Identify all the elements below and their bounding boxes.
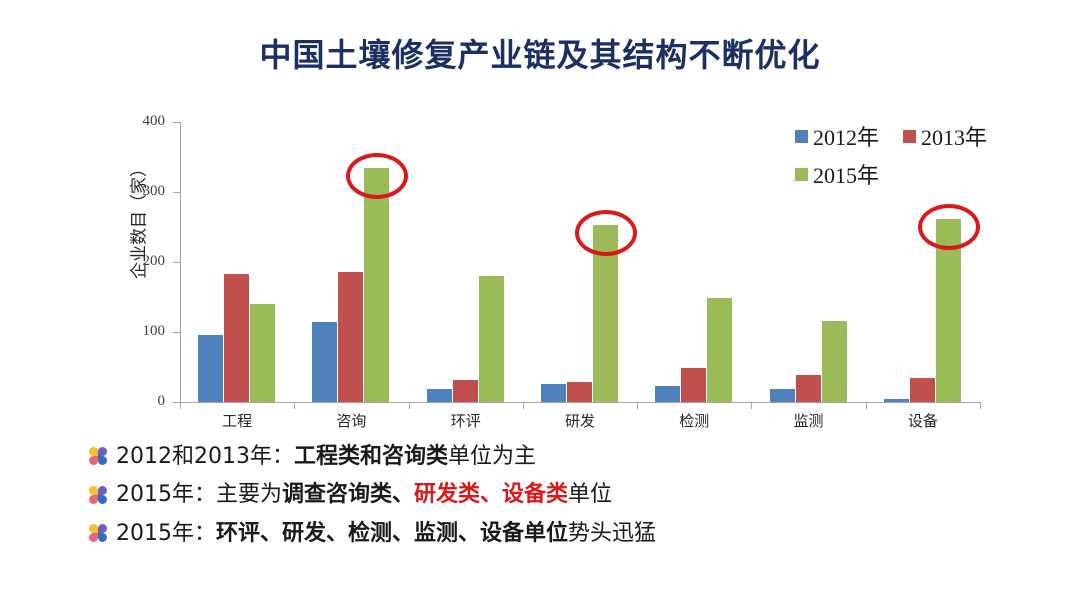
text-run: 调查咨询类、 xyxy=(282,482,414,507)
x-label-研发: 研发 xyxy=(523,410,637,431)
x-label-设备: 设备 xyxy=(866,410,980,431)
legend-row-2: 2015年 xyxy=(795,158,1065,190)
x-tick-mark xyxy=(294,402,295,409)
y-tick-label: 300 xyxy=(95,183,165,200)
bar-咨询-2012年[interactable] xyxy=(312,322,337,402)
y-tick-label: 200 xyxy=(95,253,165,270)
y-tick-mark xyxy=(173,122,181,123)
bar-设备-2013年[interactable] xyxy=(910,378,935,403)
bar-工程-2015年[interactable] xyxy=(250,304,275,402)
y-tick-label: 400 xyxy=(95,113,165,130)
x-tick-mark xyxy=(637,402,638,409)
bar-工程-2013年[interactable] xyxy=(224,274,249,402)
legend-label-2015: 2015年 xyxy=(813,158,879,190)
bar-检测-2012年[interactable] xyxy=(655,386,680,402)
legend-swatch-2012 xyxy=(795,130,808,143)
x-tick-mark xyxy=(409,402,410,409)
four-color-pinwheel-icon xyxy=(88,523,110,545)
bar-设备-2012年[interactable] xyxy=(884,399,909,403)
legend-item-2012[interactable]: 2012年 xyxy=(795,120,879,152)
bar-监测-2013年[interactable] xyxy=(796,375,821,402)
y-tick-mark xyxy=(173,192,181,193)
x-tick-mark xyxy=(751,402,752,409)
text-run: 单位为主 xyxy=(448,444,536,469)
y-tick-mark xyxy=(173,332,181,333)
page-title: 中国土壤修复产业链及其结构不断优化 xyxy=(0,30,1080,76)
x-tick-mark xyxy=(866,402,867,409)
x-tick-mark xyxy=(523,402,524,409)
bar-研发-2012年[interactable] xyxy=(541,384,566,402)
bullet-3-text: 2015年：环评、研发、检测、监测、设备单位势头迅猛 xyxy=(116,521,656,547)
legend-swatch-2015 xyxy=(795,168,808,181)
bullet-2: 2015年：主要为调查咨询类、研发类、设备类单位 xyxy=(88,482,1048,508)
text-run: 2015年：主要为 xyxy=(116,482,282,507)
y-axis-title: 企业数目（家） xyxy=(125,120,150,320)
bar-工程-2012年[interactable] xyxy=(198,335,223,402)
legend-row-1: 2012年 2013年 xyxy=(795,120,1065,152)
bar-监测-2012年[interactable] xyxy=(770,389,795,402)
bullet-2-text: 2015年：主要为调查咨询类、研发类、设备类单位 xyxy=(116,482,612,508)
bar-研发-2013年[interactable] xyxy=(567,382,592,402)
x-label-咨询: 咨询 xyxy=(294,410,408,431)
annotation-ellipse-研发 xyxy=(575,210,637,256)
x-tick-mark xyxy=(180,402,181,409)
four-color-pinwheel-icon xyxy=(88,446,110,468)
text-run: 环评、研发、检测、监测、设备单位 xyxy=(216,521,568,546)
bar-环评-2013年[interactable] xyxy=(453,380,478,402)
legend-label-2013: 2013年 xyxy=(921,120,987,152)
y-tick-label: 100 xyxy=(95,323,165,340)
x-tick-mark xyxy=(980,402,981,409)
x-label-环评: 环评 xyxy=(409,410,523,431)
bullet-list: 2012和2013年：工程类和咨询类单位为主2015年：主要为调查咨询类、研发类… xyxy=(88,444,1048,559)
slide-canvas: 中国土壤修复产业链及其结构不断优化 企业数目（家） 0100200300400 … xyxy=(0,0,1080,607)
legend-swatch-2013 xyxy=(903,130,916,143)
bar-chart: 企业数目（家） 0100200300400 工程咨询环评研发检测监测设备 201… xyxy=(95,112,985,432)
x-label-工程: 工程 xyxy=(180,410,294,431)
text-run: 单位 xyxy=(568,482,612,507)
legend-item-2015[interactable]: 2015年 xyxy=(795,158,879,190)
y-tick-label: 0 xyxy=(95,393,165,410)
y-tick-mark xyxy=(173,262,181,263)
bar-咨询-2015年[interactable] xyxy=(364,168,389,402)
text-run: 工程类和咨询类 xyxy=(294,444,448,469)
annotation-ellipse-设备 xyxy=(918,204,980,250)
text-run: 2015年： xyxy=(116,521,216,546)
bar-监测-2015年[interactable] xyxy=(822,321,847,402)
bullet-1-text: 2012和2013年：工程类和咨询类单位为主 xyxy=(116,444,536,470)
text-run: 研发类、设备类 xyxy=(414,482,568,507)
bar-检测-2015年[interactable] xyxy=(707,298,732,402)
bar-环评-2015年[interactable] xyxy=(479,276,504,402)
x-axis-line xyxy=(180,402,980,403)
x-label-检测: 检测 xyxy=(637,410,751,431)
bullet-1: 2012和2013年：工程类和咨询类单位为主 xyxy=(88,444,1048,470)
bar-咨询-2013年[interactable] xyxy=(338,272,363,402)
text-run: 势头迅猛 xyxy=(568,521,656,546)
bullet-3: 2015年：环评、研发、检测、监测、设备单位势头迅猛 xyxy=(88,521,1048,547)
four-color-pinwheel-icon xyxy=(88,485,110,507)
bar-环评-2012年[interactable] xyxy=(427,389,452,402)
bar-检测-2013年[interactable] xyxy=(681,368,706,402)
legend-item-2013[interactable]: 2013年 xyxy=(903,120,987,152)
text-run: 2012和2013年： xyxy=(116,444,294,469)
annotation-ellipse-咨询 xyxy=(346,153,408,199)
legend-label-2012: 2012年 xyxy=(813,120,879,152)
x-label-监测: 监测 xyxy=(751,410,865,431)
chart-legend: 2012年 2013年 2015年 xyxy=(795,120,1065,196)
